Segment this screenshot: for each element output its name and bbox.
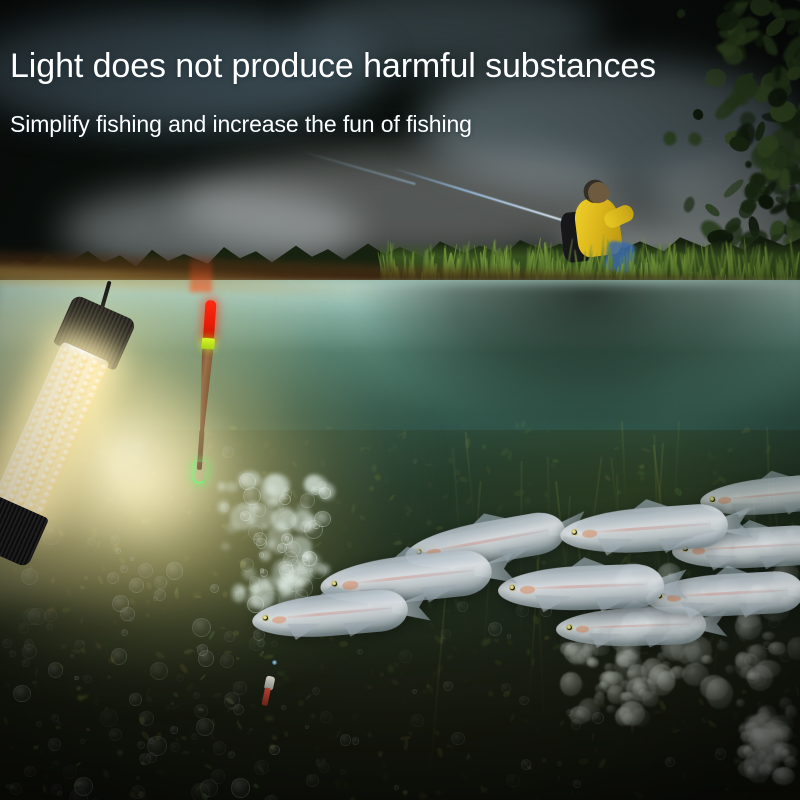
air-bubble — [196, 718, 214, 736]
weed-speck — [55, 726, 60, 730]
bubble-pebble — [630, 708, 649, 727]
weed-speck — [182, 750, 190, 755]
weed-speck — [509, 713, 515, 722]
bobber-surface-reflection — [190, 252, 212, 292]
air-bubble — [719, 639, 722, 642]
air-bubble — [278, 504, 284, 510]
weed-speck — [513, 489, 525, 498]
air-bubble — [131, 785, 145, 799]
air-bubble — [213, 741, 227, 755]
weed-speck — [382, 771, 390, 781]
weed-speck — [251, 752, 257, 759]
weed-speck — [506, 639, 513, 646]
weed-speck — [482, 787, 489, 795]
bubble-pebble — [622, 691, 631, 700]
weed-speck — [521, 420, 526, 427]
weed-speck — [236, 721, 243, 731]
bubble-pebble — [739, 722, 753, 734]
air-bubble — [150, 662, 168, 680]
weed-speck — [637, 464, 645, 470]
air-bubble — [129, 578, 144, 593]
lure-tail — [261, 687, 271, 706]
weed-speck — [474, 784, 478, 789]
weed-speck — [725, 787, 730, 792]
weed-speck — [419, 792, 429, 799]
weed-speck — [549, 462, 557, 468]
air-bubble — [557, 761, 562, 766]
bubble-pebble — [594, 692, 605, 705]
bubble-pebble — [623, 649, 640, 660]
weed-speck — [314, 745, 322, 752]
bubble-pebble — [762, 632, 775, 641]
weed-speck — [102, 769, 109, 778]
air-bubble — [233, 681, 247, 695]
weed-speck — [797, 423, 800, 431]
air-bubble — [300, 493, 315, 508]
weed-speck — [494, 452, 499, 458]
weed-speck — [460, 424, 466, 428]
air-bubble — [129, 693, 142, 706]
air-bubble — [440, 629, 451, 640]
air-bubble — [319, 487, 331, 499]
weed-speck — [404, 739, 409, 750]
air-bubble — [394, 785, 399, 790]
weed-speck — [435, 791, 441, 796]
weed-speck — [52, 761, 61, 766]
bubble-pebble — [632, 683, 650, 695]
air-bubble — [171, 702, 174, 705]
air-bubble — [158, 583, 166, 591]
air-bubble — [254, 760, 269, 775]
air-bubble — [314, 511, 331, 528]
weed-speck — [343, 782, 347, 787]
weed-speck — [516, 422, 520, 429]
air-bubble — [136, 776, 140, 780]
weed-speck — [459, 476, 469, 483]
weed-speck — [592, 732, 594, 740]
weed-speck — [641, 448, 651, 453]
fish-eye — [571, 528, 578, 535]
air-bubble — [506, 774, 520, 788]
air-bubble — [2, 639, 11, 648]
weed-speck — [175, 738, 179, 741]
weed-speck — [652, 730, 662, 740]
weed-speck — [541, 560, 545, 565]
weed-speck — [696, 760, 706, 764]
weed-speck — [614, 447, 620, 451]
weed-speck — [155, 768, 165, 775]
air-bubble — [192, 618, 211, 637]
weed-speck — [472, 649, 479, 653]
weed-speck — [460, 745, 467, 754]
product-banner-scene: Light does not produce harmful substance… — [0, 0, 800, 800]
weed-speck — [451, 645, 457, 652]
weed-speck — [32, 744, 39, 750]
weed-speck — [459, 772, 470, 781]
weed-speck — [609, 733, 616, 744]
fish-eye — [566, 624, 573, 631]
page-subtitle: Simplify fishing and increase the fun of… — [10, 111, 472, 138]
bubble-pebble — [569, 654, 585, 666]
air-bubble — [24, 766, 35, 777]
weed-speck — [522, 718, 529, 724]
bubble-pebble — [670, 666, 685, 678]
weed-speck — [527, 648, 530, 655]
weed-speck — [485, 473, 490, 483]
weed-speck — [556, 775, 561, 781]
weed-speck — [540, 757, 547, 764]
bubble-cluster — [736, 700, 800, 790]
weed-speck — [700, 716, 707, 724]
weed-speck — [366, 732, 372, 738]
air-bubble — [80, 739, 85, 744]
weed-speck — [436, 747, 444, 758]
air-bubble — [507, 634, 512, 639]
weed-speck — [446, 744, 453, 749]
air-bubble — [443, 681, 453, 691]
weed-speck — [349, 796, 356, 800]
weed-speck — [544, 635, 550, 640]
weed-speck — [726, 447, 733, 453]
air-bubble — [111, 648, 128, 665]
weed-speck — [597, 758, 607, 770]
air-bubble — [320, 711, 332, 723]
weed-speck — [634, 790, 646, 800]
fish — [497, 563, 664, 613]
air-bubble — [281, 533, 293, 545]
air-bubble — [744, 654, 757, 667]
weed-speck — [603, 474, 611, 482]
air-bubble — [191, 733, 198, 740]
air-bubble — [305, 725, 309, 729]
bubble-pebble — [701, 655, 714, 665]
air-bubble — [10, 783, 22, 795]
bubble-pebble — [725, 665, 734, 674]
bubble-pebble — [772, 767, 795, 785]
weed-speck — [44, 774, 48, 780]
light-sparkle — [272, 660, 277, 665]
fish-gill-plate — [575, 625, 589, 632]
air-bubble — [754, 673, 767, 686]
weed-speck — [10, 745, 14, 751]
weed-speck — [200, 749, 204, 754]
weed-speck — [42, 785, 46, 794]
weed-speck — [682, 719, 685, 724]
weed-speck — [274, 782, 278, 785]
weed-speck — [482, 443, 486, 449]
fish-eye — [509, 584, 516, 591]
air-bubble — [411, 714, 424, 727]
weed-speck — [204, 764, 213, 771]
air-bubble — [715, 748, 727, 760]
bubble-pebble — [606, 705, 616, 712]
weed-speck — [680, 772, 687, 779]
air-bubble — [278, 511, 296, 529]
page-title: Light does not produce harmful substance… — [10, 47, 656, 86]
weed-speck — [37, 751, 43, 757]
air-bubble — [24, 639, 35, 650]
weed-speck — [693, 424, 697, 428]
weed-speck — [533, 795, 539, 800]
bubble-pebble — [756, 705, 776, 727]
air-bubble — [235, 591, 240, 596]
weed-speck — [494, 639, 499, 642]
weed-speck — [742, 790, 749, 799]
weed-speck — [535, 727, 540, 733]
weed-speck — [571, 791, 574, 796]
weed-speck — [463, 678, 469, 683]
weed-speck — [523, 427, 533, 435]
air-bubble — [312, 687, 320, 695]
weed-speck — [594, 747, 599, 752]
weed-speck — [638, 736, 645, 744]
air-bubble — [137, 741, 145, 749]
air-bubble — [13, 685, 30, 702]
air-bubble — [501, 683, 511, 693]
air-bubble — [146, 752, 157, 763]
weed-speck — [654, 711, 663, 714]
air-bubble — [269, 794, 278, 800]
bubble-pebble — [785, 705, 797, 719]
weed-speck — [366, 741, 373, 749]
weed-speck — [75, 762, 81, 768]
air-bubble — [100, 709, 118, 727]
weed-speck — [381, 761, 387, 769]
weed-speck — [517, 792, 521, 797]
air-bubble — [51, 714, 59, 722]
air-bubble — [521, 759, 532, 770]
weed-speck — [712, 471, 717, 476]
weed-speck — [252, 782, 259, 789]
weed-speck — [639, 476, 645, 482]
air-bubble — [148, 738, 154, 744]
weed-speck — [248, 732, 251, 736]
air-bubble — [170, 726, 178, 734]
air-bubble — [22, 659, 30, 667]
weed-speck — [725, 764, 729, 768]
air-bubble — [519, 696, 529, 706]
bubble-pebble — [682, 663, 709, 686]
weed-speck — [116, 748, 125, 757]
weed-speck — [272, 735, 278, 741]
weed-speck — [373, 789, 384, 796]
bubble-pebble — [743, 746, 753, 756]
air-bubble — [626, 661, 633, 668]
air-bubble — [311, 486, 320, 495]
air-bubble — [269, 745, 280, 756]
weed-speck — [578, 758, 588, 765]
air-bubble — [340, 734, 352, 746]
weed-speck — [181, 735, 188, 741]
air-bubble — [83, 675, 92, 684]
weed-speck — [119, 779, 124, 783]
weed-speck — [487, 690, 494, 697]
weed-speck — [527, 482, 531, 486]
weed-speck — [493, 659, 503, 667]
air-bubble — [74, 640, 85, 651]
weed-speck — [355, 782, 361, 787]
air-bubble — [57, 791, 62, 796]
air-bubble — [399, 650, 412, 663]
weed-speck — [636, 484, 640, 489]
weed-speck — [525, 496, 531, 505]
weed-speck — [560, 771, 566, 776]
air-bubble — [28, 608, 45, 625]
air-bubble — [306, 774, 319, 787]
weed-speck — [470, 688, 475, 693]
weed-speck — [495, 504, 505, 515]
weed-speck — [86, 728, 90, 732]
air-bubble — [357, 649, 363, 655]
air-bubble — [153, 596, 158, 601]
weed-speck — [325, 735, 334, 741]
weed-speck — [284, 731, 290, 738]
air-bubble — [763, 641, 771, 649]
underwater-reed — [621, 421, 627, 510]
weed-speck — [636, 470, 645, 476]
air-bubble — [282, 488, 292, 498]
bubble-pebble — [774, 746, 787, 760]
weed-speck — [636, 555, 643, 558]
weed-speck — [545, 429, 552, 435]
weed-speck — [334, 780, 341, 787]
air-bubble — [74, 676, 78, 680]
weed-speck — [48, 765, 55, 769]
weed-speck — [672, 726, 676, 730]
led-dot — [0, 488, 7, 497]
bubble-pebble — [739, 623, 753, 637]
